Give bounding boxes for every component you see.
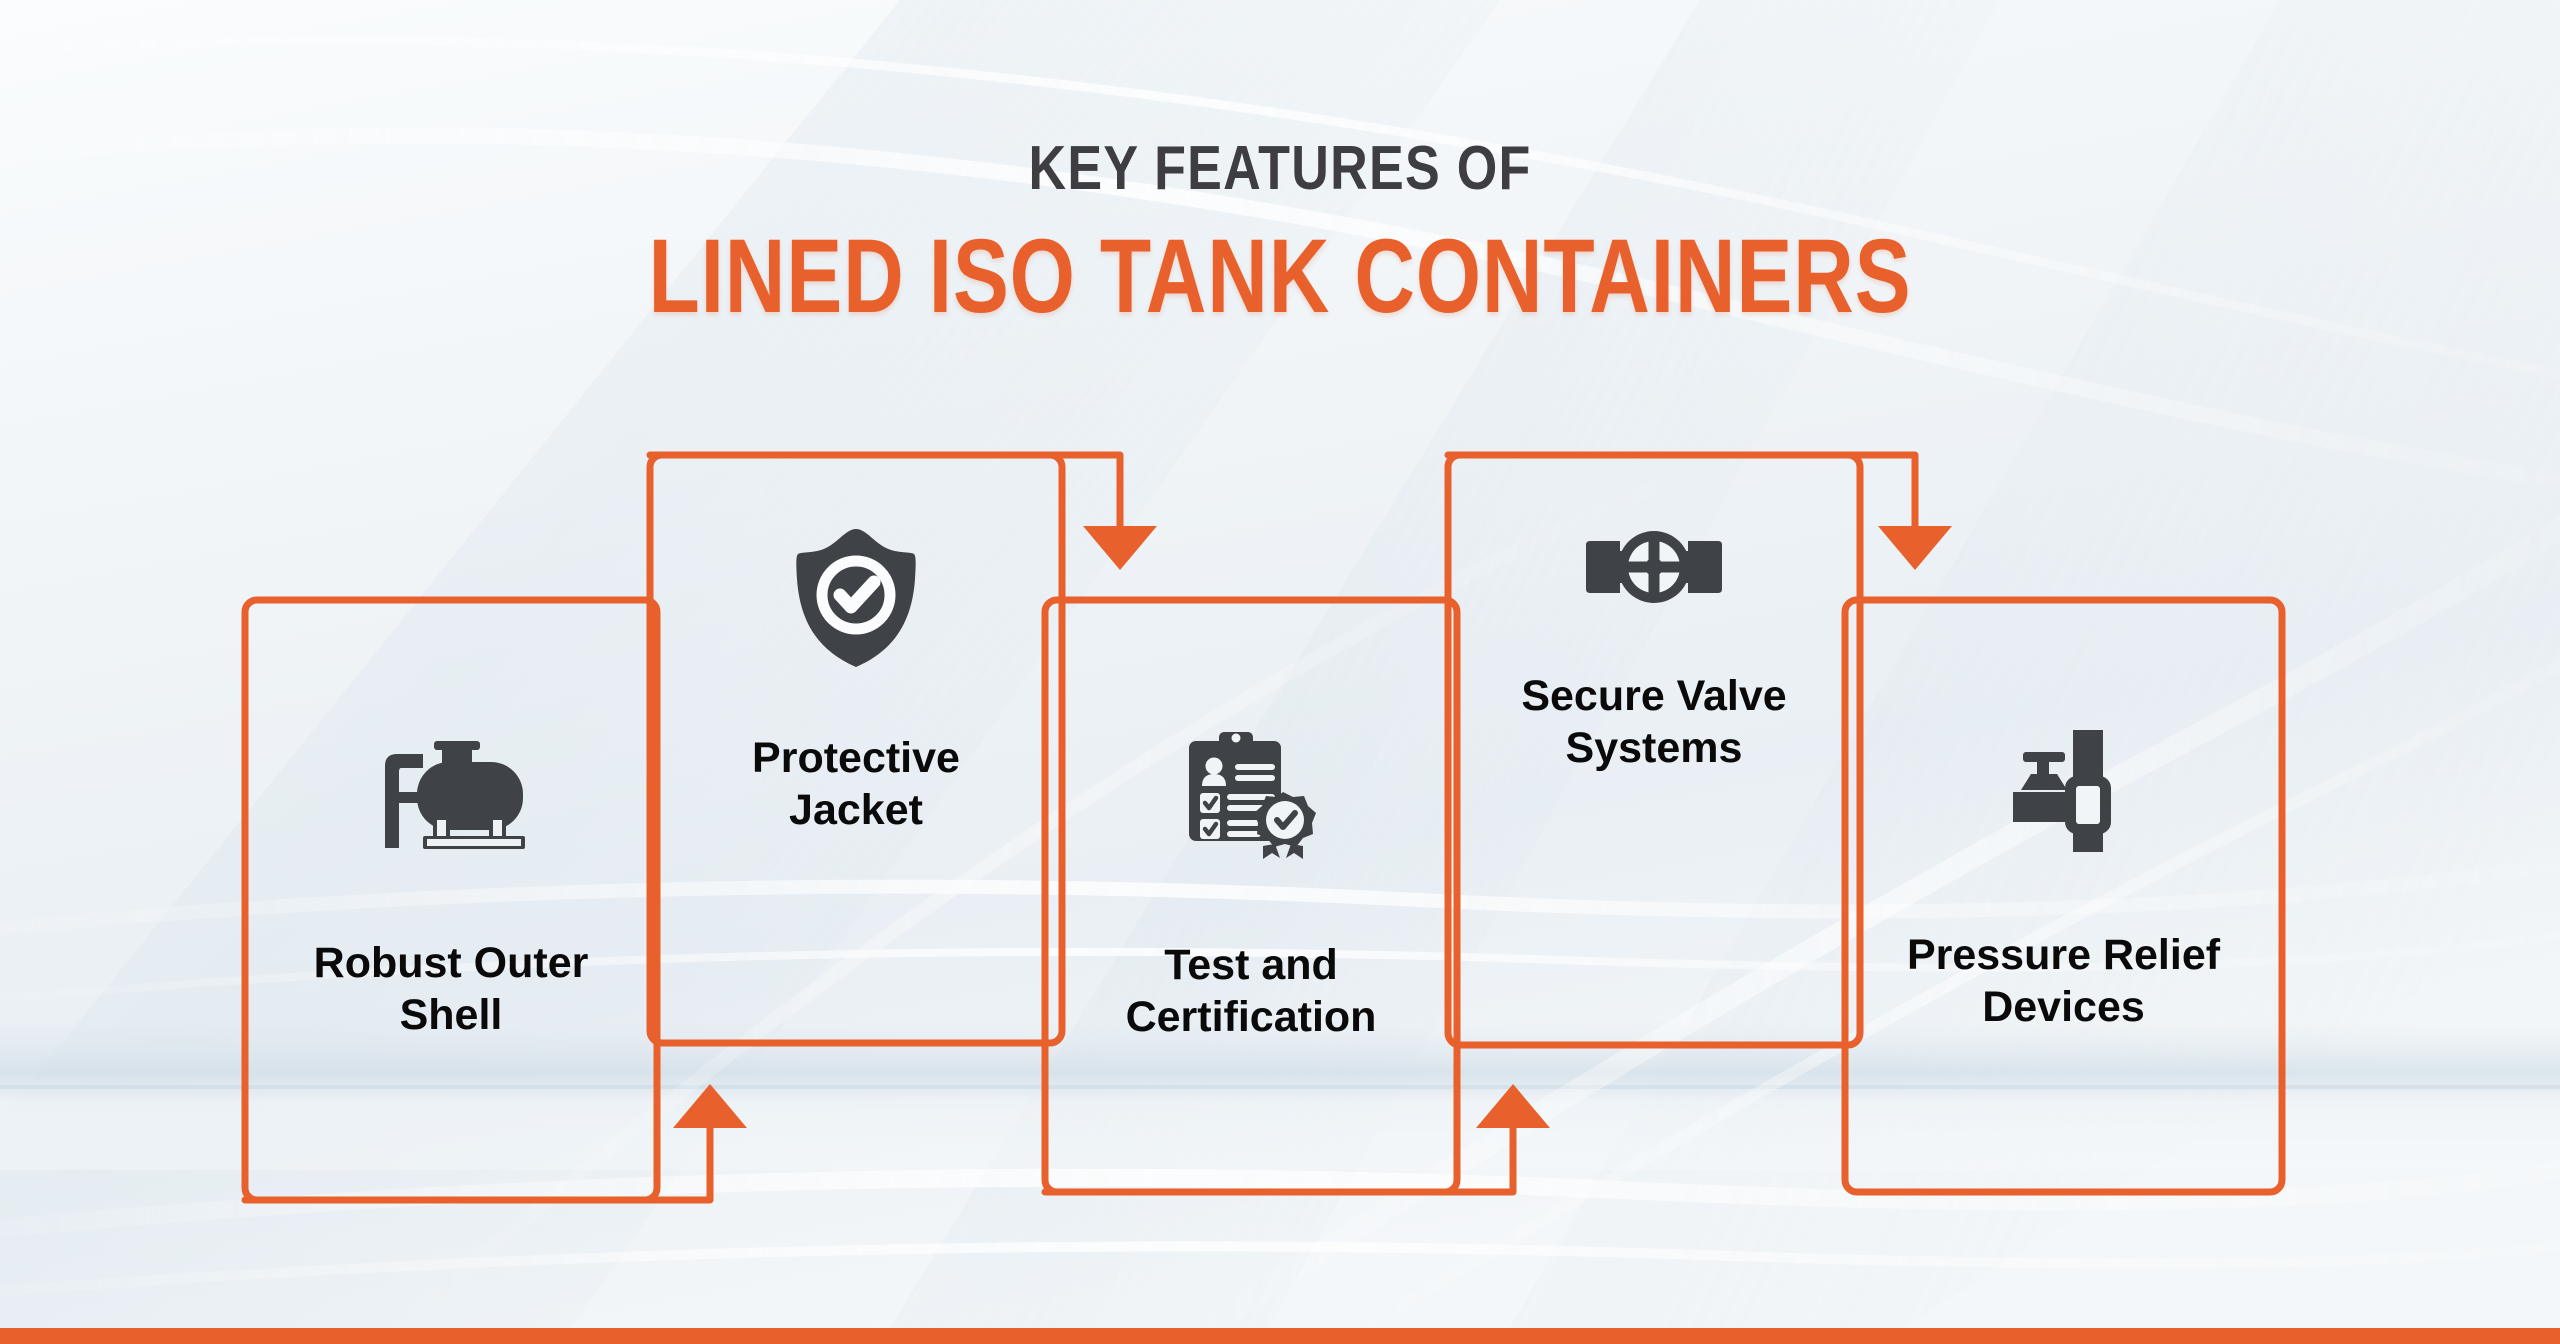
card-label: Protective Jacket (752, 732, 960, 837)
shield-check-icon (795, 527, 917, 674)
connector-c4-to-c5-arrowhead (1878, 526, 1952, 570)
card-pressure-relief-devices[interactable]: Pressure Relief Devices (1845, 600, 2282, 1192)
card-protective-jacket[interactable]: Protective Jacket (650, 455, 1062, 1043)
connector-c1-to-c2-arrowhead (673, 1084, 747, 1128)
clipboard-certificate-icon (1183, 728, 1319, 865)
card-robust-outer-shell[interactable]: Robust Outer Shell (245, 600, 657, 1200)
card-label: Test and Certification (1126, 939, 1377, 1044)
storage-tank-icon (371, 730, 531, 859)
gate-valve-icon (1576, 525, 1732, 614)
card-label: Secure Valve Systems (1521, 670, 1786, 775)
card-label: Robust Outer Shell (314, 937, 589, 1042)
connector-c2-to-c3-arrowhead (1083, 526, 1157, 570)
card-test-and-certification[interactable]: Test and Certification (1045, 600, 1457, 1192)
bottom-accent-bar (0, 1328, 2560, 1344)
connector-c3-to-c4-arrowhead (1476, 1084, 1550, 1128)
card-label: Pressure Relief Devices (1907, 929, 2220, 1034)
pressure-relief-valve-icon (1997, 728, 2131, 857)
card-secure-valve-systems[interactable]: Secure Valve Systems (1448, 455, 1860, 1045)
